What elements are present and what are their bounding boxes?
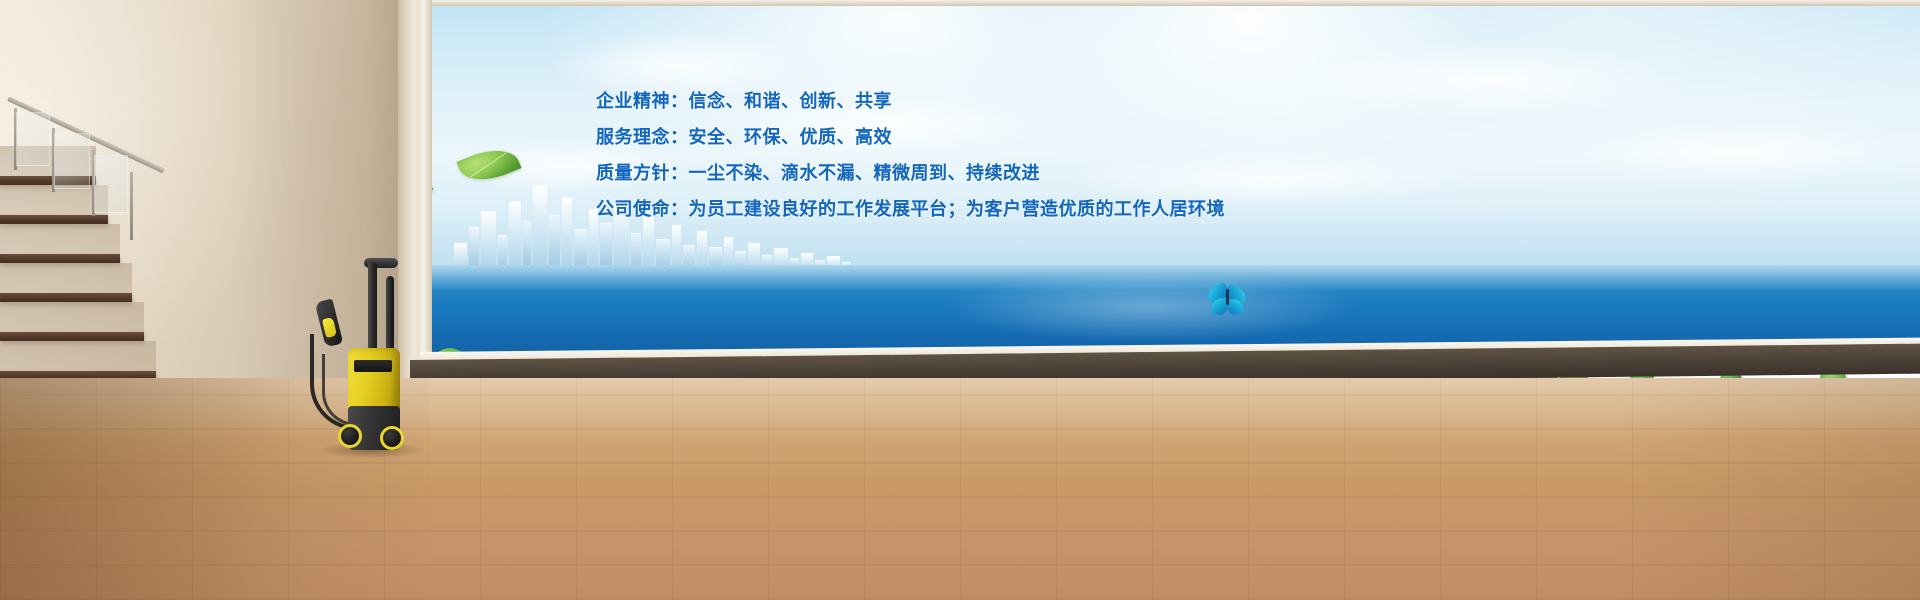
washer-handle-bar [368, 262, 377, 362]
cloud-icon [550, 30, 810, 100]
wood-floor [0, 378, 1920, 600]
washer-wheel [380, 426, 404, 450]
cloud-icon [1570, 120, 1900, 184]
banner-stage: 企业精神：信念、和谐、创新、共享 服务理念：安全、环保、优质、高效 质量方针：一… [0, 0, 1920, 600]
pressure-washer [306, 256, 426, 461]
washer-control-panel [354, 360, 392, 372]
slogan-line-4: 公司使命：为员工建设良好的工作发展平台；为客户营造优质的工作人居环境 [596, 200, 1356, 218]
slogan-line-2: 服务理念：安全、环保、优质、高效 [596, 128, 1356, 146]
cloud-icon [1300, 40, 1680, 120]
window-frame-top [420, 0, 1920, 6]
slogan-line-3: 质量方针：一尘不染、滴水不漏、精微周到、持续改进 [596, 164, 1356, 182]
glass-railing [0, 0, 165, 250]
slogan-line-1: 企业精神：信念、和谐、创新、共享 [596, 92, 1356, 110]
slogan-block: 企业精神：信念、和谐、创新、共享 服务理念：安全、环保、优质、高效 质量方针：一… [596, 92, 1356, 218]
washer-wheel [338, 424, 362, 448]
butterfly-icon [1208, 285, 1248, 321]
